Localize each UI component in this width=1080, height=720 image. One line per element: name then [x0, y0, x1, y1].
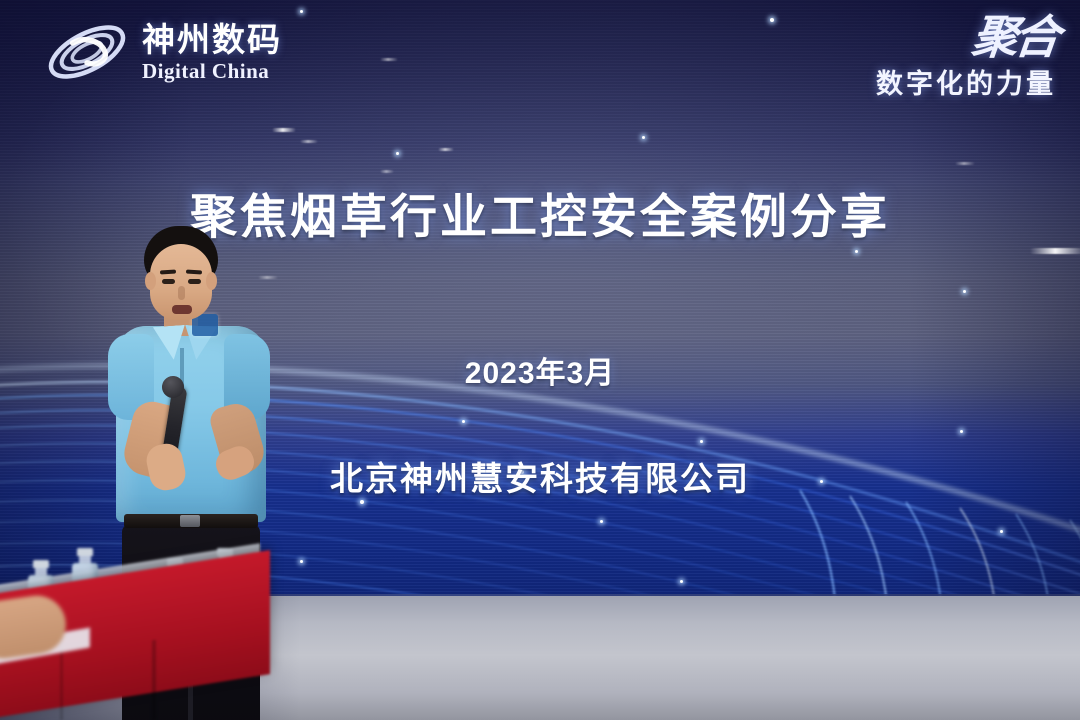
speaker-nose [178, 286, 185, 300]
brand-name-cn: 神州数码 [142, 23, 282, 56]
speaker-eye-right [188, 279, 201, 284]
speaker-mouth [172, 305, 192, 314]
event-calligraphy: 聚合 [970, 16, 1059, 60]
digital-china-logo: 神州数码 Digital China [42, 16, 282, 88]
event-brand-logo: 聚合 数字化的力量 [876, 16, 1056, 101]
conference-stage-photo: 神州数码 Digital China 聚合 数字化的力量 聚焦烟草行业工控安全案… [0, 0, 1080, 720]
brand-name-en: Digital China [142, 61, 282, 82]
event-tagline: 数字化的力量 [876, 62, 1056, 101]
speaker-eye-left [162, 279, 175, 284]
speaker-ear-left [145, 272, 156, 290]
digital-china-swirl-icon [42, 16, 132, 88]
table-cloth-fold [152, 640, 156, 720]
speaker-belt-buckle [180, 515, 200, 527]
speaker-person [96, 226, 286, 598]
speaker-ear-right [206, 272, 217, 290]
